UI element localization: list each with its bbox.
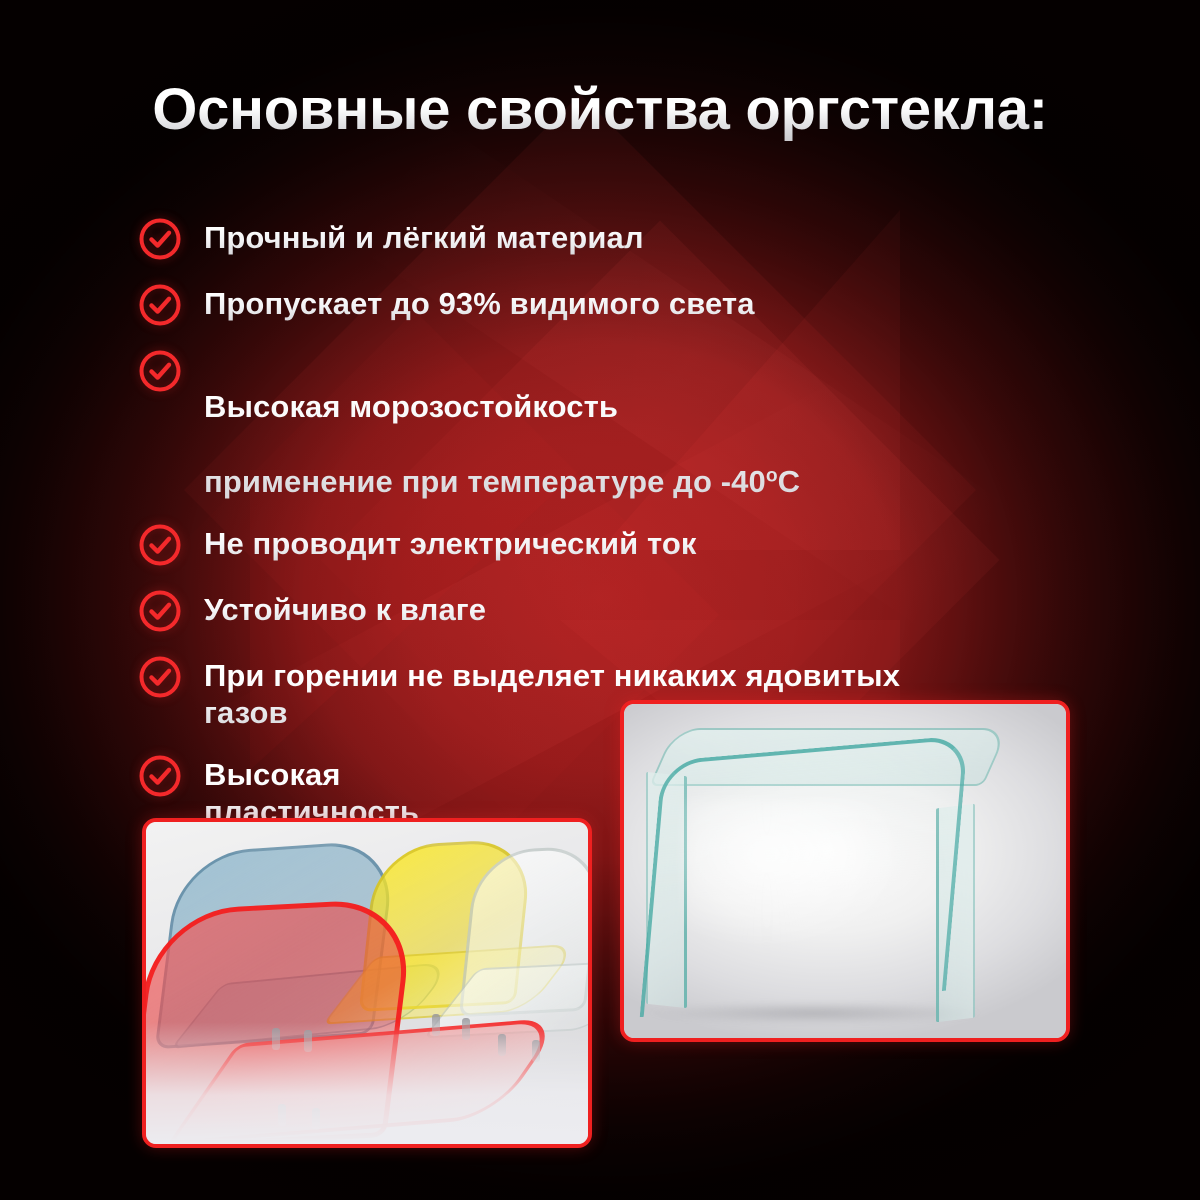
check-circle-icon	[138, 283, 182, 327]
list-item: Не проводит электрический ток	[138, 522, 1098, 570]
list-item: Устойчиво к влаге	[138, 588, 1098, 636]
chair-leg	[304, 1030, 312, 1052]
check-circle-icon	[138, 655, 182, 699]
chair-leg	[498, 1034, 506, 1056]
chairs-scene-backdrop	[146, 822, 588, 1144]
chair-leg	[532, 1040, 540, 1062]
content-layer: Основные свойства оргстекла: Прочный и л…	[0, 0, 1200, 1200]
table-scene-backdrop	[624, 704, 1066, 1038]
chair-leg	[462, 1018, 470, 1040]
list-item-label: Устойчиво к влаге	[204, 588, 486, 628]
glass-table-photo-inner	[624, 704, 1066, 1038]
list-item: Высокая морозостойкость применение при т…	[138, 348, 1098, 500]
poster-root: Основные свойства оргстекла: Прочный и л…	[0, 0, 1200, 1200]
list-item-line-2-prefix: применение при температуре до -40	[204, 464, 766, 499]
chair-leg	[272, 1028, 280, 1050]
check-circle-icon	[138, 754, 182, 798]
list-item-line-1: Высокая морозостойкость	[204, 389, 618, 424]
list-item-line-2-suffix: C	[778, 464, 801, 499]
check-circle-icon	[138, 523, 182, 567]
list-item-label-multiline: Высокая морозостойкость применение при т…	[204, 348, 800, 500]
list-item-label: Прочный и лёгкий материал	[204, 216, 644, 256]
list-item-label: Пропускает до 93% видимого света	[204, 282, 755, 322]
glass-console-table-photo	[620, 700, 1070, 1042]
chair-leg	[432, 1014, 440, 1036]
table-glass-highlight	[684, 800, 914, 950]
acrylic-chairs-photo	[142, 818, 592, 1148]
chair-leg	[312, 1108, 320, 1130]
check-circle-icon	[138, 217, 182, 261]
chair-leg	[278, 1104, 286, 1126]
page-title: Основные свойства оргстекла:	[0, 77, 1200, 143]
check-circle-icon	[138, 589, 182, 633]
degree-symbol: o	[766, 465, 778, 486]
list-item: Пропускает до 93% видимого света	[138, 282, 1098, 330]
list-item-label: Не проводит электрический ток	[204, 522, 697, 562]
list-item: Прочный и лёгкий материал	[138, 216, 1098, 264]
red-acrylic-chair	[146, 897, 416, 1144]
acrylic-chairs-photo-inner	[146, 822, 588, 1144]
check-circle-icon	[138, 349, 182, 393]
red-acrylic-chair-seat	[167, 1017, 565, 1144]
